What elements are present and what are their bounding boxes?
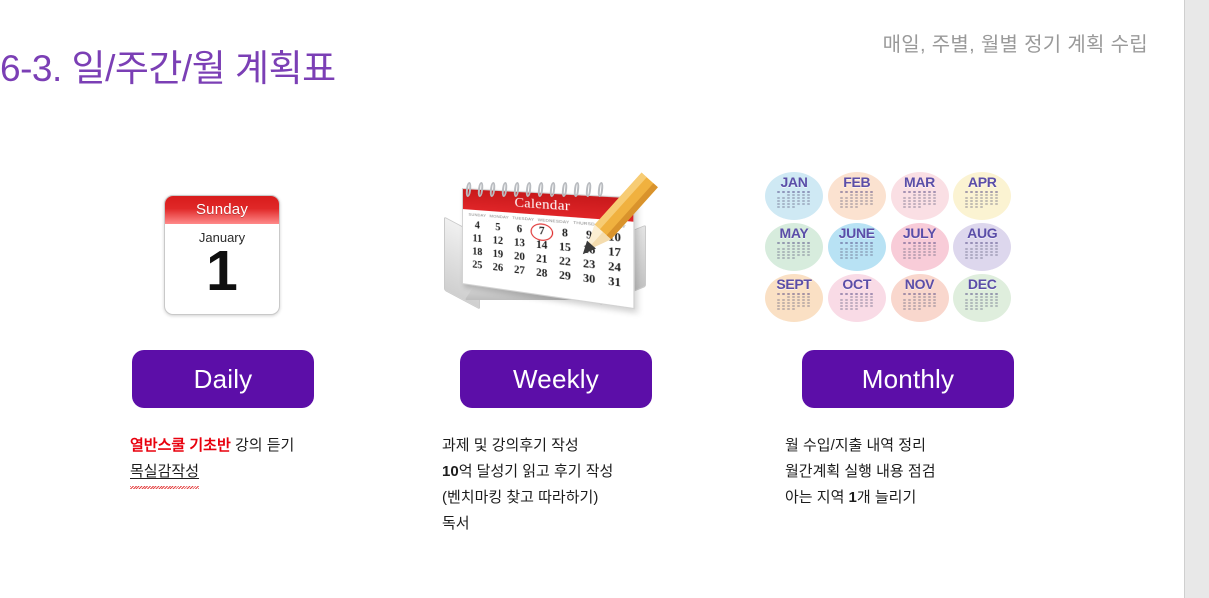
month-circle-oct: OCT xyxy=(828,274,886,322)
list-item: 목실감작성 xyxy=(130,459,430,485)
month-circle-mar: MAR xyxy=(891,172,949,220)
list-item: 열반스쿨 기초반 강의 듣기 xyxy=(130,433,430,459)
weekly-note-text: 억 달성기 읽고 후기 작성 xyxy=(459,463,614,480)
month-mini-grid xyxy=(840,293,874,310)
date-cell: 25 xyxy=(469,258,486,273)
daily-note-underlined: 목실감작성 xyxy=(130,459,199,485)
month-label: MAY xyxy=(780,226,809,240)
date-cell-circled: 7 xyxy=(532,224,551,240)
monthly-note-text: 월 수입/지출 내역 정리 xyxy=(785,437,926,454)
month-mini-grid xyxy=(840,242,874,259)
month-circle-sept: SEPT xyxy=(765,274,823,322)
month-mini-grid xyxy=(965,293,999,310)
plan-columns: Sunday January 1 Daily 열반스쿨 기초반 강의 듣기 목실… xyxy=(0,150,1184,590)
date-cell: 27 xyxy=(510,263,528,279)
month-label: FEB xyxy=(843,175,870,189)
date-cell: 28 xyxy=(532,265,551,281)
month-mini-grid xyxy=(965,242,999,259)
month-mini-grid xyxy=(903,293,937,310)
column-monthly: JANFEBMARAPRMAYJUNEJULYAUGSEPTOCTNOVDEC … xyxy=(737,150,1037,590)
day-calendar-weekday: Sunday xyxy=(165,196,279,224)
month-label: JULY xyxy=(903,226,936,240)
slide-canvas: 6-3. 일/주간/월 계획표 매일, 주별, 월별 정기 계획 수립 Sund… xyxy=(0,0,1184,598)
month-circle-june: JUNE xyxy=(828,223,886,271)
month-mini-grid xyxy=(777,191,811,208)
monthly-note-text: 월간계획 실행 내용 점검 xyxy=(785,463,936,480)
month-circle-dec: DEC xyxy=(953,274,1011,322)
list-item: (벤치마킹 찾고 따라하기) xyxy=(442,485,742,511)
right-margin-rail xyxy=(1184,0,1209,598)
date-cell: 26 xyxy=(489,260,507,276)
month-circle-aug: AUG xyxy=(953,223,1011,271)
daily-note-highlight: 열반스쿨 기초반 xyxy=(130,437,231,454)
weekly-button[interactable]: Weekly xyxy=(460,350,652,408)
date-cell: 31 xyxy=(604,274,626,292)
month-mini-grid xyxy=(840,191,874,208)
daily-button[interactable]: Daily xyxy=(132,350,314,408)
day-calendar-icon: Sunday January 1 xyxy=(164,195,280,315)
pencil-icon xyxy=(554,172,658,276)
daily-artwork: Sunday January 1 xyxy=(72,150,372,310)
month-label: JAN xyxy=(780,175,807,189)
weekly-note-text: 독서 xyxy=(442,515,470,532)
twelve-month-calendar-icon: JANFEBMARAPRMAYJUNEJULYAUGSEPTOCTNOVDEC xyxy=(765,172,1013,322)
monthly-button[interactable]: Monthly xyxy=(802,350,1014,408)
column-daily: Sunday January 1 Daily 열반스쿨 기초반 강의 듣기 목실… xyxy=(72,150,372,590)
month-label: OCT xyxy=(842,277,871,291)
month-mini-grid xyxy=(965,191,999,208)
weekly-artwork: Calendar SUNDAY MONDAY TUESDAY WEDNESDAY… xyxy=(402,150,702,310)
monthly-artwork: JANFEBMARAPRMAYJUNEJULYAUGSEPTOCTNOVDEC xyxy=(737,150,1037,310)
weekly-note-text: 과제 및 강의후기 작성 xyxy=(442,437,579,454)
weekly-note-number: 10 xyxy=(442,463,459,480)
month-label: DEC xyxy=(968,277,997,291)
list-item: 과제 및 강의후기 작성 xyxy=(442,433,742,459)
month-circle-may: MAY xyxy=(765,223,823,271)
monthly-note-number: 1 xyxy=(849,489,857,506)
list-item: 아는 지역 1개 늘리기 xyxy=(785,485,1085,511)
list-item: 10억 달성기 읽고 후기 작성 xyxy=(442,459,742,485)
list-item: 월간계획 실행 내용 점검 xyxy=(785,459,1085,485)
monthly-note-text: 아는 지역 xyxy=(785,489,849,506)
month-mini-grid xyxy=(903,191,937,208)
monthly-note-text: 개 늘리기 xyxy=(857,489,916,506)
daily-note-text: 강의 듣기 xyxy=(231,437,295,454)
page-subtitle: 매일, 주별, 월별 정기 계획 수립 xyxy=(883,28,1148,57)
desk-calendar-with-pencil-icon: Calendar SUNDAY MONDAY TUESDAY WEDNESDAY… xyxy=(430,172,674,317)
month-circle-nov: NOV xyxy=(891,274,949,322)
month-label: APR xyxy=(968,175,997,189)
month-label: NOV xyxy=(905,277,934,291)
day-calendar-day: 1 xyxy=(165,241,279,301)
month-mini-grid xyxy=(777,242,811,259)
list-item: 독서 xyxy=(442,511,742,537)
month-circle-apr: APR xyxy=(953,172,1011,220)
list-item: 월 수입/지출 내역 정리 xyxy=(785,433,1085,459)
weekly-note-text: (벤치마킹 찾고 따라하기) xyxy=(442,489,598,506)
month-circle-feb: FEB xyxy=(828,172,886,220)
month-label: SEPT xyxy=(776,277,811,291)
page-title: 6-3. 일/주간/월 계획표 xyxy=(0,38,336,92)
month-circle-jan: JAN xyxy=(765,172,823,220)
month-label: JUNE xyxy=(839,226,875,240)
column-weekly: Calendar SUNDAY MONDAY TUESDAY WEDNESDAY… xyxy=(402,150,702,590)
month-circle-july: JULY xyxy=(891,223,949,271)
month-label: MAR xyxy=(904,175,935,189)
monthly-notes: 월 수입/지출 내역 정리 월간계획 실행 내용 점검 아는 지역 1개 늘리기 xyxy=(785,433,1085,511)
month-mini-grid xyxy=(903,242,937,259)
daily-notes: 열반스쿨 기초반 강의 듣기 목실감작성 xyxy=(130,433,430,485)
month-label: AUG xyxy=(967,226,997,240)
month-mini-grid xyxy=(777,293,811,310)
weekly-notes: 과제 및 강의후기 작성 10억 달성기 읽고 후기 작성 (벤치마킹 찾고 따… xyxy=(442,433,742,537)
